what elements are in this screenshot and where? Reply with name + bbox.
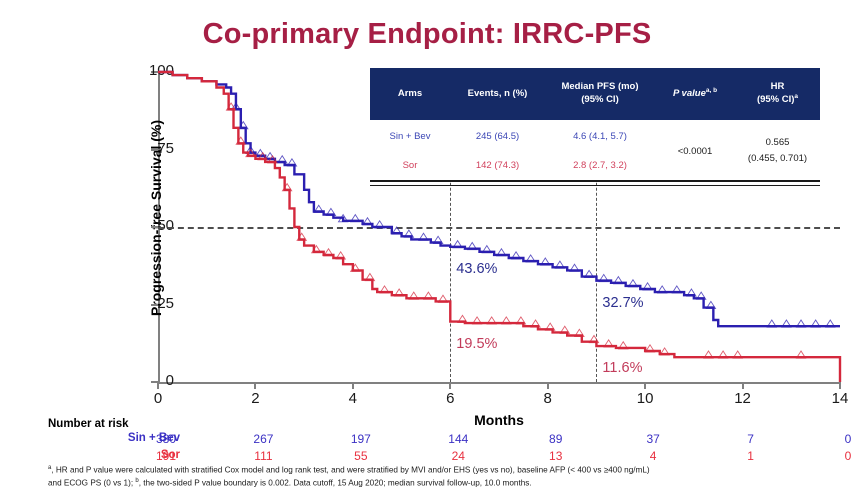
cell-arm: Sin + Bev bbox=[370, 131, 450, 142]
x-tick-label: 12 bbox=[723, 390, 763, 407]
x-tick-label: 2 bbox=[235, 390, 275, 407]
x-tick bbox=[352, 382, 354, 389]
footnote-line-2: , the two-sided P value boundary is 0.00… bbox=[139, 478, 532, 487]
x-tick bbox=[254, 382, 256, 389]
cell-events: 142 (74.3) bbox=[450, 160, 545, 171]
x-tick-label: 14 bbox=[820, 390, 854, 407]
annotation-32.7pct: 32.7% bbox=[602, 295, 643, 311]
cell-events: 245 (64.5) bbox=[450, 131, 545, 142]
header-arms: Arms bbox=[370, 88, 450, 101]
x-axis-label: Months bbox=[158, 412, 840, 428]
number-at-risk-value: 0 bbox=[828, 449, 854, 463]
number-at-risk-value: 111 bbox=[243, 449, 283, 463]
annotation-43.6pct: 43.6% bbox=[456, 261, 497, 277]
number-at-risk-value: 37 bbox=[633, 432, 673, 446]
number-at-risk-value: 267 bbox=[243, 432, 283, 446]
x-tick-label: 6 bbox=[430, 390, 470, 407]
number-at-risk-value: 13 bbox=[536, 449, 576, 463]
number-at-risk-value: 144 bbox=[438, 432, 478, 446]
annotation-11.6pct: 11.6% bbox=[602, 360, 642, 376]
results-table-bottom-rule bbox=[370, 180, 820, 186]
cell-median-pfs: 2.8 (2.7, 3.2) bbox=[545, 160, 655, 171]
page-title: Co-primary Endpoint: IRRC-PFS bbox=[0, 18, 854, 51]
number-at-risk-value: 55 bbox=[341, 449, 381, 463]
cell-p-value: <0.0001 bbox=[655, 122, 735, 180]
header-events: Events, n (%) bbox=[450, 88, 545, 101]
header-median-pfs: Median PFS (mo) (95% CI) bbox=[545, 81, 655, 107]
number-at-risk-title: Number at risk bbox=[48, 418, 129, 430]
header-hr: HR (95% CI)a bbox=[735, 81, 820, 108]
number-at-risk-value: 7 bbox=[731, 432, 771, 446]
x-tick-label: 0 bbox=[138, 390, 178, 407]
x-tick bbox=[449, 382, 451, 389]
number-at-risk-value: 1 bbox=[731, 449, 771, 463]
number-at-risk-value: 380 bbox=[146, 432, 186, 446]
x-tick bbox=[644, 382, 646, 389]
results-table-body: Sin + Bev 245 (64.5) 4.6 (4.1, 5.7) Sor … bbox=[370, 122, 820, 180]
results-table-header: Arms Events, n (%) Median PFS (mo) (95% … bbox=[370, 68, 820, 122]
x-axis-line bbox=[158, 382, 840, 384]
x-tick bbox=[157, 382, 159, 389]
footnote-line-2-pre: and ECOG PS (0 vs 1); bbox=[48, 478, 135, 487]
x-tick-label: 10 bbox=[625, 390, 665, 407]
x-tick bbox=[547, 382, 549, 389]
number-at-risk-value: 89 bbox=[536, 432, 576, 446]
number-at-risk-value: 4 bbox=[633, 449, 673, 463]
cell-hazard-ratio: 0.565 (0.455, 0.701) bbox=[735, 122, 820, 180]
x-tick-label: 8 bbox=[528, 390, 568, 407]
hr-ci: (0.455, 0.701) bbox=[748, 151, 807, 167]
footnote: a, HR and P value were calculated with s… bbox=[48, 464, 838, 489]
x-tick bbox=[742, 382, 744, 389]
number-at-risk-value: 197 bbox=[341, 432, 381, 446]
x-tick bbox=[839, 382, 841, 389]
annotation-19.5pct: 19.5% bbox=[456, 336, 497, 352]
cell-median-pfs: 4.6 (4.1, 5.7) bbox=[545, 131, 655, 142]
number-at-risk-value: 191 bbox=[146, 449, 186, 463]
number-at-risk-value: 0 bbox=[828, 432, 854, 446]
footnote-line-1: , HR and P value were calculated with st… bbox=[51, 466, 649, 475]
cell-arm: Sor bbox=[370, 160, 450, 171]
number-at-risk-value: 24 bbox=[438, 449, 478, 463]
header-p-value: P valuea, b bbox=[655, 87, 735, 101]
x-tick-label: 4 bbox=[333, 390, 373, 407]
hr-value: 0.565 bbox=[766, 135, 790, 151]
results-table: Arms Events, n (%) Median PFS (mo) (95% … bbox=[370, 68, 820, 186]
